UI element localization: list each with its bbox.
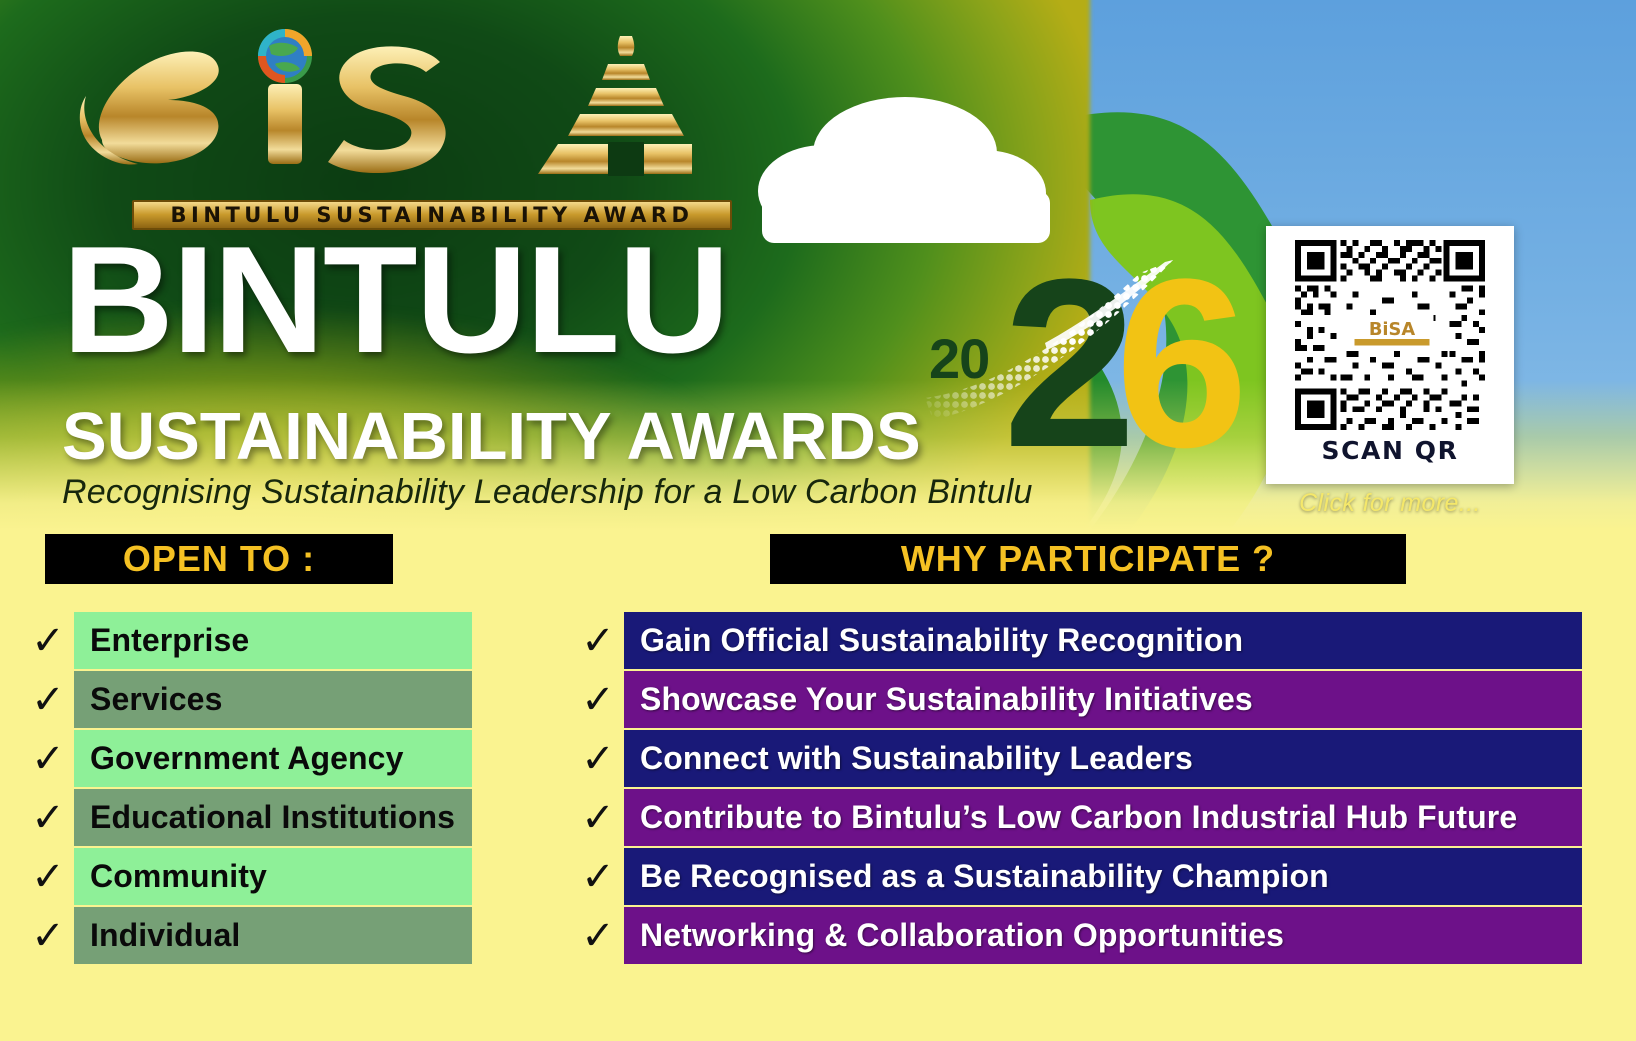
- qr-click-for-more-link[interactable]: Click for more...: [1266, 489, 1514, 518]
- list-item-label: Services: [74, 671, 472, 728]
- list-item-label: Individual: [74, 907, 472, 964]
- halftone-swoosh-icon: [915, 238, 1225, 498]
- check-icon: ✓: [22, 671, 74, 728]
- section-header-open-to: OPEN TO :: [45, 534, 393, 584]
- list-item-label: Educational Institutions: [74, 789, 472, 846]
- list-item[interactable]: ✓ Community: [22, 848, 472, 905]
- check-icon: ✓: [572, 730, 624, 787]
- list-item[interactable]: ✓ Showcase Your Sustainability Initiativ…: [572, 671, 1582, 728]
- check-icon: ✓: [572, 907, 624, 964]
- list-item[interactable]: ✓ Enterprise: [22, 612, 472, 669]
- list-item[interactable]: ✓ Contribute to Bintulu’s Low Carbon Ind…: [572, 789, 1582, 846]
- qr-card[interactable]: BiSA SCAN QR: [1266, 226, 1514, 484]
- list-item[interactable]: ✓ Networking & Collaboration Opportuniti…: [572, 907, 1582, 964]
- check-icon: ✓: [572, 612, 624, 669]
- headline-block: BINTULU: [62, 224, 962, 404]
- check-icon: ✓: [22, 612, 74, 669]
- list-item-label: Contribute to Bintulu’s Low Carbon Indus…: [624, 789, 1582, 846]
- list-item[interactable]: ✓ Connect with Sustainability Leaders: [572, 730, 1582, 787]
- headline-bintulu: BINTULU: [62, 224, 980, 376]
- list-item-label: Be Recognised as a Sustainability Champi…: [624, 848, 1582, 905]
- why-participate-list: ✓ Gain Official Sustainability Recogniti…: [572, 612, 1582, 966]
- check-icon: ✓: [22, 730, 74, 787]
- list-item-label: Enterprise: [74, 612, 472, 669]
- check-icon: ✓: [572, 789, 624, 846]
- list-item-label: Government Agency: [74, 730, 472, 787]
- list-item[interactable]: ✓ Services: [22, 671, 472, 728]
- list-item-label: Showcase Your Sustainability Initiatives: [624, 671, 1582, 728]
- section-header-why-participate: WHY PARTICIPATE ?: [770, 534, 1406, 584]
- list-item-label: Networking & Collaboration Opportunities: [624, 907, 1582, 964]
- open-to-list: ✓ Enterprise ✓ Services ✓ Government Age…: [22, 612, 472, 966]
- year-2026-graphic: 6 2 20: [915, 238, 1225, 498]
- list-item[interactable]: ✓ Gain Official Sustainability Recogniti…: [572, 612, 1582, 669]
- qr-code-image[interactable]: BiSA: [1276, 236, 1504, 434]
- headline-sustainability-awards: SUSTAINABILITY AWARDS: [62, 398, 921, 475]
- cloud-icon: [740, 95, 1070, 245]
- list-item[interactable]: ✓ Educational Institutions: [22, 789, 472, 846]
- bisa-logo[interactable]: BINTULU SUSTAINABILITY AWARD: [72, 22, 692, 217]
- section-header-why-participate-label: WHY PARTICIPATE ?: [901, 538, 1275, 580]
- check-icon: ✓: [22, 907, 74, 964]
- poster-root: BINTULU SUSTAINABILITY AWARD BINTULU SUS…: [0, 0, 1636, 1041]
- list-item[interactable]: ✓ Government Agency: [22, 730, 472, 787]
- bisa-wordmark-icon: [72, 22, 692, 182]
- section-header-open-to-label: OPEN TO :: [123, 538, 315, 580]
- list-item-label: Gain Official Sustainability Recognition: [624, 612, 1582, 669]
- list-item[interactable]: ✓ Individual: [22, 907, 472, 964]
- list-item-label: Connect with Sustainability Leaders: [624, 730, 1582, 787]
- svg-text:BiSA: BiSA: [1369, 319, 1416, 340]
- check-icon: ✓: [572, 671, 624, 728]
- list-item[interactable]: ✓ Be Recognised as a Sustainability Cham…: [572, 848, 1582, 905]
- check-icon: ✓: [22, 848, 74, 905]
- check-icon: ✓: [572, 848, 624, 905]
- headline-tagline: Recognising Sustainability Leadership fo…: [62, 473, 1033, 512]
- list-item-label: Community: [74, 848, 472, 905]
- qr-label: SCAN QR: [1276, 436, 1504, 465]
- check-icon: ✓: [22, 789, 74, 846]
